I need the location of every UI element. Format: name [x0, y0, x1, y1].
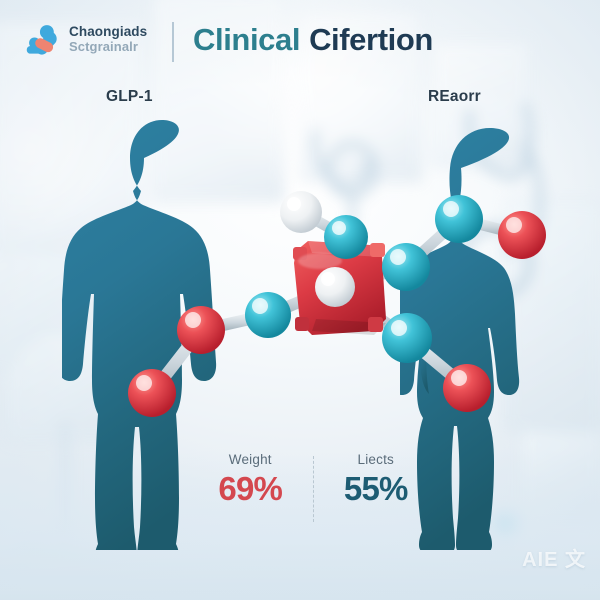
- atom-cyan: [382, 313, 432, 363]
- atom-cyan: [435, 195, 483, 243]
- stat-card-weight: Weight 69%: [198, 452, 303, 532]
- stat-label: Weight: [229, 452, 272, 467]
- stat-card-liects: Liects 55%: [324, 452, 429, 532]
- page-title: ClinicalCifertion: [193, 22, 433, 58]
- brand-lockup[interactable]: Chaongiads Sctgrainalr: [26, 22, 147, 56]
- watermark: AIE 文: [522, 543, 586, 572]
- infographic-canvas: Chaongiads Sctgrainalr ClinicalCifertion…: [0, 0, 600, 600]
- stat-value: 69%: [218, 470, 282, 508]
- page-title-part-1: Clinical: [193, 22, 300, 57]
- 3d-molecule-model: [120, 175, 450, 425]
- stat-label: Liects: [358, 452, 394, 467]
- header-divider: [172, 22, 174, 62]
- group-label-right: REaorr: [428, 88, 481, 106]
- stats-divider: [313, 456, 314, 522]
- atom-cyan: [382, 243, 430, 291]
- atom-cyan: [245, 292, 291, 338]
- atom-red: [443, 364, 491, 412]
- brand-line-2: Sctgrainalr: [69, 40, 147, 54]
- stat-value: 55%: [344, 470, 408, 508]
- page-title-part-2: Cifertion: [309, 22, 433, 57]
- atom-white: [280, 191, 322, 233]
- group-label-left: GLP-1: [106, 88, 153, 106]
- atom-red: [498, 211, 546, 259]
- stats-row: Weight 69% Liects 55%: [198, 452, 428, 532]
- brand-line-1: Chaongiads: [69, 25, 147, 39]
- header: Chaongiads Sctgrainalr ClinicalCifertion: [0, 0, 600, 84]
- abstract-people-logo-icon: [26, 22, 60, 56]
- atom-red: [177, 306, 225, 354]
- atom-red: [128, 369, 176, 417]
- atom-cyan: [324, 215, 368, 259]
